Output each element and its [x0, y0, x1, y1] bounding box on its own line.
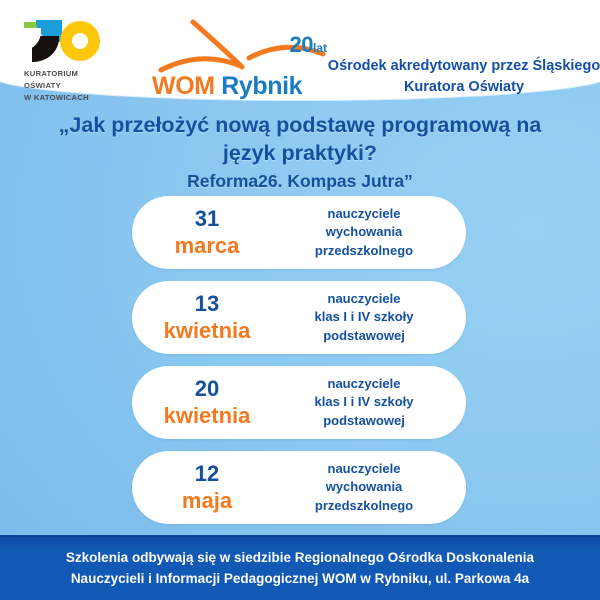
footer-line-1: Szkolenia odbywają się w siedzibie Regio… — [15, 548, 585, 569]
kuratorium-oswiaty-logo: KURATORIUM OŚWIATY W KATOWICACH — [24, 20, 144, 103]
wom-anniversary-label: lat — [313, 41, 327, 55]
schedule-card[interactable]: 31 marca nauczyciele wychowania przedszk… — [132, 196, 466, 269]
schedule-card-audience: nauczyciele klas I i IV szkoły podstawow… — [278, 290, 466, 345]
ko-yellow-ring-hole — [72, 33, 88, 49]
schedule-card-month: marca — [136, 234, 278, 258]
poster: KURATORIUM OŚWIATY W KATOWICACH 20lat WO… — [0, 0, 600, 600]
ko-logo-line-3: W KATOWICACH — [24, 92, 144, 104]
schedule-card-day: 31 — [136, 207, 278, 231]
header: KURATORIUM OŚWIATY W KATOWICACH 20lat WO… — [10, 12, 600, 112]
wom-anniversary-badge: 20lat — [290, 34, 328, 56]
wom-logo-wordmark: WOM Rybnik — [152, 72, 302, 101]
page-title-line-3: Reforma26. Kompas Jutra” — [16, 168, 584, 194]
schedule-card-date: 31 marca — [132, 207, 278, 258]
schedule-card-audience-line-2: wychowania — [278, 223, 450, 241]
ko-logo-text: KURATORIUM OŚWIATY W KATOWICACH — [24, 68, 144, 103]
schedule-card-audience-line-2: klas I i IV szkoły — [278, 308, 450, 326]
schedule-card-audience: nauczyciele wychowania przedszkolnego — [278, 460, 466, 515]
schedule-card-month: kwietnia — [136, 319, 278, 343]
schedule-card-audience-line-3: podstawowej — [278, 412, 450, 430]
wom-anniversary-number: 20 — [290, 32, 313, 57]
schedule-card-month: kwietnia — [136, 404, 278, 428]
schedule-card-audience-line-1: nauczyciele — [278, 460, 450, 478]
page-title: „Jak przełożyć nową podstawę programową … — [16, 111, 584, 194]
schedule-list: 31 marca nauczyciele wychowania przedszk… — [132, 196, 466, 536]
schedule-card-date: 12 maja — [132, 462, 278, 513]
schedule-card-month: maja — [136, 489, 278, 513]
schedule-card-audience: nauczyciele wychowania przedszkolnego — [278, 205, 466, 260]
schedule-card[interactable]: 12 maja nauczyciele wychowania przedszko… — [132, 451, 466, 524]
ko-logo-line-1: KURATORIUM — [24, 68, 144, 80]
accreditation-note: Ośrodek akredytowany przez Śląskiego Kur… — [320, 56, 600, 98]
schedule-card-audience-line-1: nauczyciele — [278, 290, 450, 308]
schedule-card-audience-line-2: wychowania — [278, 478, 450, 496]
schedule-card-audience: nauczyciele klas I i IV szkoły podstawow… — [278, 375, 466, 430]
schedule-card-date: 20 kwietnia — [132, 377, 278, 428]
schedule-card-audience-line-3: podstawowej — [278, 327, 450, 345]
accreditation-line-1: Ośrodek akredytowany — [328, 58, 488, 74]
schedule-card-day: 13 — [136, 292, 278, 316]
ko-logo-line-2: OŚWIATY — [24, 80, 144, 92]
schedule-card-audience-line-1: nauczyciele — [278, 205, 450, 223]
ko-monogram-icon — [24, 20, 98, 62]
schedule-card-audience-line-1: nauczyciele — [278, 375, 450, 393]
footer-line-2: Nauczycieli i Informacji Pedagogicznej W… — [15, 569, 585, 590]
schedule-card-date: 13 kwietnia — [132, 292, 278, 343]
schedule-card[interactable]: 20 kwietnia nauczyciele klas I i IV szko… — [132, 366, 466, 439]
schedule-card-audience-line-2: klas I i IV szkoły — [278, 393, 450, 411]
schedule-card-audience-line-3: przedszkolnego — [278, 497, 450, 515]
schedule-card-day: 20 — [136, 377, 278, 401]
wom-rybnik-logo: 20lat WOM Rybnik — [149, 18, 329, 104]
page-title-line-1: „Jak przełożyć nową podstawę programową … — [16, 111, 584, 139]
schedule-card[interactable]: 13 kwietnia nauczyciele klas I i IV szko… — [132, 281, 466, 354]
schedule-card-audience-line-3: przedszkolnego — [278, 242, 450, 260]
footer-bar: Szkolenia odbywają się w siedzibie Regio… — [0, 535, 600, 600]
wom-wordmark-rybnik: Rybnik — [221, 72, 302, 100]
footer-venue-note: Szkolenia odbywają się w siedzibie Regio… — [15, 548, 585, 590]
wom-wordmark-wom: WOM — [152, 72, 215, 100]
schedule-card-day: 12 — [136, 462, 278, 486]
page-title-line-2: język praktyki? — [16, 139, 584, 167]
